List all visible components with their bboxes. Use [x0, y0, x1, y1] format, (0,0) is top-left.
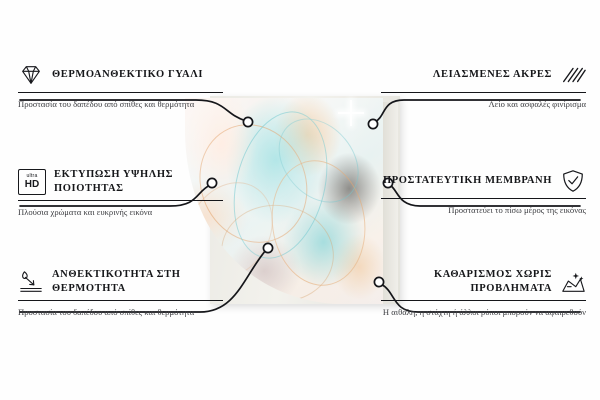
infographic-canvas: ΘΕΡΜΟΑΝΘΕΚΤΙΚΟ ΓΥΑΛΙ Προστασία του δαπέδ… [0, 0, 600, 400]
feature-description: Προστασία του δαπέδου από σπίθες και θερ… [18, 98, 223, 110]
feature-heat-durability: ΑΝΘΕΚΤΙΚΟΤΗΤΑ ΣΤΗ ΘΕΡΜΟΤΗΤΑ Προστασία το… [18, 268, 223, 319]
diagonal-lines-icon [560, 62, 586, 88]
feature-description: Προστασία του δαπέδου από σπίθες και θερ… [18, 306, 223, 318]
sparkle-cloth-icon [560, 269, 586, 295]
flame-arrow-icon [18, 269, 44, 295]
divider [18, 200, 223, 201]
feature-description: Λείο και ασφαλές φινίρισμα [381, 98, 586, 110]
feature-title: ΚΑΘΑΡΙΣΜΟΣ ΧΩΡΙΣ ΠΡΟΒΛΗΜΑΤΑ [381, 268, 552, 296]
divider [18, 92, 223, 93]
feature-polished-edges: ΛΕΙΑΣΜΕΝΕΣ ΑΚΡΕΣ Λείο και ασφαλές φινίρι… [381, 62, 586, 111]
feature-trouble-free-cleaning: ΚΑΘΑΡΙΣΜΟΣ ΧΩΡΙΣ ΠΡΟΒΛΗΜΑΤΑ Η αιθάλη, η … [381, 268, 586, 319]
ultra-hd-icon-bottom-label: HD [25, 180, 39, 190]
feature-heat-resistant-glass: ΘΕΡΜΟΑΝΘΕΚΤΙΚΟ ΓΥΑΛΙ Προστασία του δαπέδ… [18, 62, 223, 111]
feature-description: Πλούσια χρώματα και ευκρινής εικόνα [18, 206, 223, 218]
feature-title: ΕΚΤΥΠΩΣΗ ΥΨΗΛΗΣ ΠΟΙΟΤΗΤΑΣ [54, 168, 223, 196]
feature-description: Προστατεύει το πίσω μέρος της εικόνας [381, 204, 586, 216]
feature-high-quality-print: ultra HD ΕΚΤΥΠΩΣΗ ΥΨΗΛΗΣ ΠΟΙΟΤΗΤΑΣ Πλούσ… [18, 168, 223, 219]
divider [381, 300, 586, 301]
feature-title: ΛΕΙΑΣΜΕΝΕΣ ΑΚΡΕΣ [433, 68, 552, 82]
feature-title: ΠΡΟΣΤΑΤΕΥΤΙΚΗ ΜΕΜΒΡΑΝΗ [383, 174, 552, 188]
feature-title: ΘΕΡΜΟΑΝΘΕΚΤΙΚΟ ΓΥΑΛΙ [52, 68, 203, 82]
diamond-icon [18, 62, 44, 88]
divider [18, 300, 223, 301]
feature-protective-membrane: ΠΡΟΣΤΑΤΕΥΤΙΚΗ ΜΕΜΒΡΑΝΗ Προστατεύει το πί… [381, 168, 586, 217]
divider [381, 92, 586, 93]
shield-check-icon [560, 168, 586, 194]
ultra-hd-icon: ultra HD [18, 169, 46, 195]
feature-title: ΑΝΘΕΚΤΙΚΟΤΗΤΑ ΣΤΗ ΘΕΡΜΟΤΗΤΑ [52, 268, 223, 296]
divider [381, 198, 586, 199]
feature-description: Η αιθάλη, η στάχτη ή άλλοι ρύποι μπορούν… [381, 306, 586, 318]
